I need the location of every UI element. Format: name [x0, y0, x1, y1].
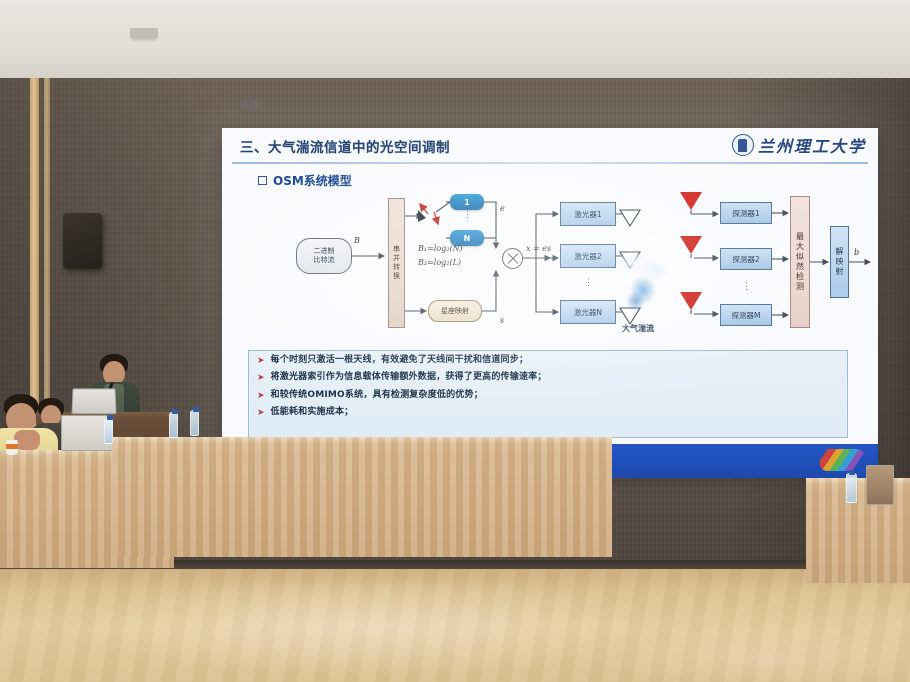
title-divider: [232, 162, 868, 164]
wall-speaker: [63, 213, 102, 269]
water-bottle-4: [846, 473, 857, 503]
label-b-output: b: [854, 248, 859, 257]
turbulence-label: 大气湍流: [622, 323, 654, 334]
right-table-laptop: [866, 465, 894, 505]
table-right: [806, 478, 910, 583]
section-heading: OSM系统模型: [258, 172, 352, 189]
detector-ellipsis: ⋮: [742, 284, 751, 289]
laser-transmitter-n: 激光器N: [560, 300, 616, 324]
label-B: B: [354, 236, 360, 245]
university-seal-icon: [732, 134, 754, 156]
presentation-slide: 三、大气湍流信道中的光空间调制 兰州理工大学 OSM系统模型: [222, 128, 878, 478]
ceiling-light-fixture: [240, 100, 260, 111]
label-s: s: [500, 316, 504, 325]
formula-line-2: B₂=log₂(L): [418, 256, 463, 270]
arrow-bullet-icon: ➤: [257, 388, 265, 403]
floor: [0, 560, 910, 682]
serial-parallel-block: 串并转换: [388, 198, 405, 328]
paper-cup: [6, 440, 18, 455]
list-item-label: 低能耗和实施成本；: [271, 405, 354, 420]
water-bottle-3: [190, 410, 199, 436]
list-item: ➤ 低能耗和实施成本；: [257, 405, 847, 420]
university-branding: 兰州理工大学: [732, 133, 866, 157]
detector-2: 探测器2: [720, 248, 772, 270]
ceiling: [0, 0, 910, 78]
constellation-mapping-block: 星座映射: [428, 300, 482, 322]
laser-transmitter-2: 激光器2: [560, 244, 616, 268]
binary-bitstream-block: 二进制 比特流: [296, 238, 352, 274]
section-heading-label: OSM系统模型: [273, 172, 352, 189]
arrow-bullet-icon: ➤: [257, 353, 265, 368]
presenter-laptop: [71, 388, 116, 414]
detector-m: 探测器M: [720, 304, 772, 326]
laser-ellipsis: ⋮: [584, 280, 593, 285]
demapping-block: 解映射: [830, 226, 849, 298]
osm-system-diagram: 二进制 比特流 B 串并转换 1 ⋮ N e B₁=log₂(N) B₂=log…: [250, 192, 850, 342]
antenna-index-box-1: 1: [450, 194, 484, 210]
formula-line-1: B₁=log₂(N): [418, 242, 463, 256]
ceiling-vent: [130, 28, 158, 38]
rainbow-logo-icon: [818, 449, 867, 471]
slide-title: 三、大气湍流信道中的光空间调制: [240, 136, 450, 156]
water-bottle-2: [169, 412, 178, 438]
label-x-equals-es: x = es: [526, 244, 551, 253]
list-item-label: 每个时刻只激活一根天线，有效避免了天线间干扰和信道同步；: [271, 353, 529, 368]
label-e: e: [500, 204, 505, 213]
laser-transmitter-1: 激光器1: [560, 202, 616, 226]
atmospheric-turbulence-cloud-icon: [618, 222, 670, 314]
conference-room-photo: 三、大气湍流信道中的光空间调制 兰州理工大学 OSM系统模型: [0, 0, 910, 682]
projection-screen: 三、大气湍流信道中的光空间调制 兰州理工大学 OSM系统模型: [222, 128, 878, 478]
square-bullet-icon: [258, 176, 267, 185]
water-bottle-1: [104, 418, 113, 444]
list-item: ➤ 将激光器索引作为信息载体传输额外数据，获得了更高的传输速率；: [257, 370, 847, 385]
list-item-label: 和较传统OMIMO系统，具有检测复杂度低的优势；: [271, 388, 483, 403]
antenna-index-ellipsis: ⋮: [463, 212, 472, 217]
list-item: ➤ 和较传统OMIMO系统，具有检测复杂度低的优势；: [257, 388, 847, 403]
detector-1: 探测器1: [720, 202, 772, 224]
binary-bitstream-line1: 二进制: [314, 247, 335, 256]
binary-bitstream-line2: 比特流: [314, 256, 335, 265]
list-item-label: 将激光器索引作为信息载体传输额外数据，获得了更高的传输速率；: [271, 370, 547, 385]
bit-allocation-formula: B₁=log₂(N) B₂=log₂(L): [418, 242, 463, 269]
university-name: 兰州理工大学: [758, 133, 866, 157]
floor-reflection: [0, 560, 910, 682]
slide-header: 三、大气湍流信道中的光空间调制 兰州理工大学: [222, 128, 878, 164]
arrow-bullet-icon: ➤: [257, 405, 265, 420]
advantages-list: ➤ 每个时刻只激活一根天线，有效避免了天线间干扰和信道同步； ➤ 将激光器索引作…: [248, 350, 848, 438]
multiplier-icon: [502, 248, 523, 269]
maximum-likelihood-detection-block: 最大似然检测: [790, 196, 810, 328]
list-item: ➤ 每个时刻只激活一根天线，有效避免了天线间干扰和信道同步；: [257, 353, 847, 368]
arrow-bullet-icon: ➤: [257, 370, 265, 385]
table-center: [112, 437, 612, 557]
